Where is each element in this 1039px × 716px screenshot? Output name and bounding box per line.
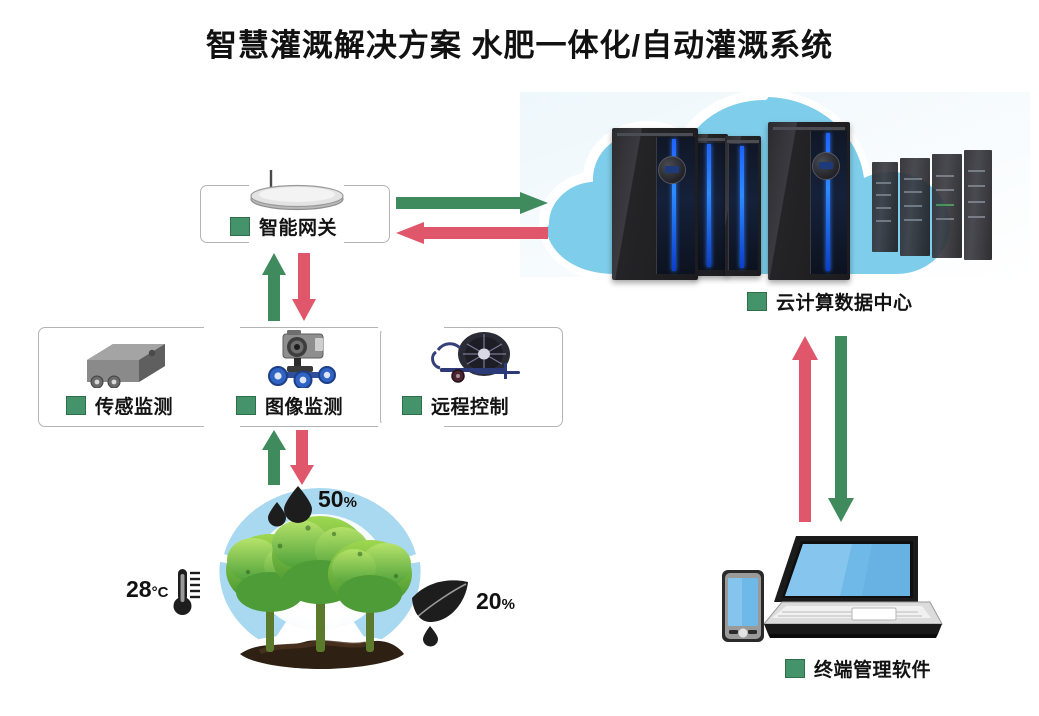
laptop-and-phone-icon	[712, 528, 952, 648]
green-marker-icon	[230, 217, 250, 236]
background-server-rack	[872, 162, 898, 252]
background-server-rack	[964, 150, 992, 260]
leaf-humidity-unit: %	[502, 596, 515, 613]
camera-rover-icon	[263, 330, 343, 388]
remote-label-text: 远程控制	[431, 392, 509, 419]
leaf-humidity-reading: 20%	[476, 588, 515, 615]
sensing-label: 传感监测	[66, 392, 173, 419]
green-marker-icon	[66, 396, 86, 415]
background-server-rack	[932, 154, 962, 258]
server-rack-secondary	[768, 122, 850, 280]
temperature-reading: 28°C	[126, 576, 168, 603]
arrow-devices-to-gateway	[262, 253, 286, 321]
green-marker-icon	[402, 396, 422, 415]
page-title: 智慧灌溉解决方案 水肥一体化/自动灌溉系统	[0, 20, 1039, 65]
soil-moisture-unit: %	[344, 494, 357, 511]
terminal-label-text: 终端管理软件	[814, 655, 931, 682]
green-marker-icon	[747, 292, 767, 311]
temperature-unit: °C	[152, 584, 169, 601]
field-monitoring-graphic: 28°C 50% 20%	[120, 476, 520, 711]
arrow-cloud-to-terminal	[828, 336, 854, 522]
wireless-router-icon	[243, 168, 351, 212]
green-marker-icon	[236, 396, 256, 415]
remote-label: 远程控制	[402, 392, 509, 419]
cloud-data-center-group: 云计算数据中心	[520, 92, 1030, 302]
sensor-box-icon	[73, 338, 167, 388]
gateway-label-text: 智能网关	[259, 213, 337, 240]
temperature-value: 28	[126, 576, 152, 602]
arrow-field-to-devices	[262, 430, 286, 485]
gateway-label: 智能网关	[230, 213, 337, 240]
leaf-humidity-value: 20	[476, 588, 502, 614]
leaf-drop-icon	[412, 580, 468, 646]
cloud-label-text: 云计算数据中心	[776, 288, 913, 315]
server-rack-primary	[612, 128, 698, 280]
imaging-label-text: 图像监测	[265, 392, 343, 419]
sensing-label-text: 传感监测	[95, 392, 173, 419]
server-rack	[725, 136, 761, 276]
arrow-devices-to-field	[290, 430, 314, 485]
arrow-terminal-to-cloud	[792, 336, 818, 522]
arrow-gateway-to-cloud	[396, 192, 548, 214]
imaging-label: 图像监测	[236, 392, 343, 419]
arrow-gateway-to-devices	[292, 253, 316, 321]
thermometer-icon	[174, 569, 201, 615]
background-server-rack	[900, 158, 930, 256]
irrigation-reel-icon	[418, 330, 526, 385]
terminal-illustration	[712, 528, 952, 648]
green-marker-icon	[785, 659, 805, 678]
arrow-cloud-to-gateway	[396, 222, 548, 244]
soil-moisture-value: 50	[318, 486, 344, 512]
terminal-label: 终端管理软件	[785, 655, 931, 682]
cloud-label: 云计算数据中心	[747, 288, 913, 315]
soil-moisture-reading: 50%	[318, 486, 357, 513]
